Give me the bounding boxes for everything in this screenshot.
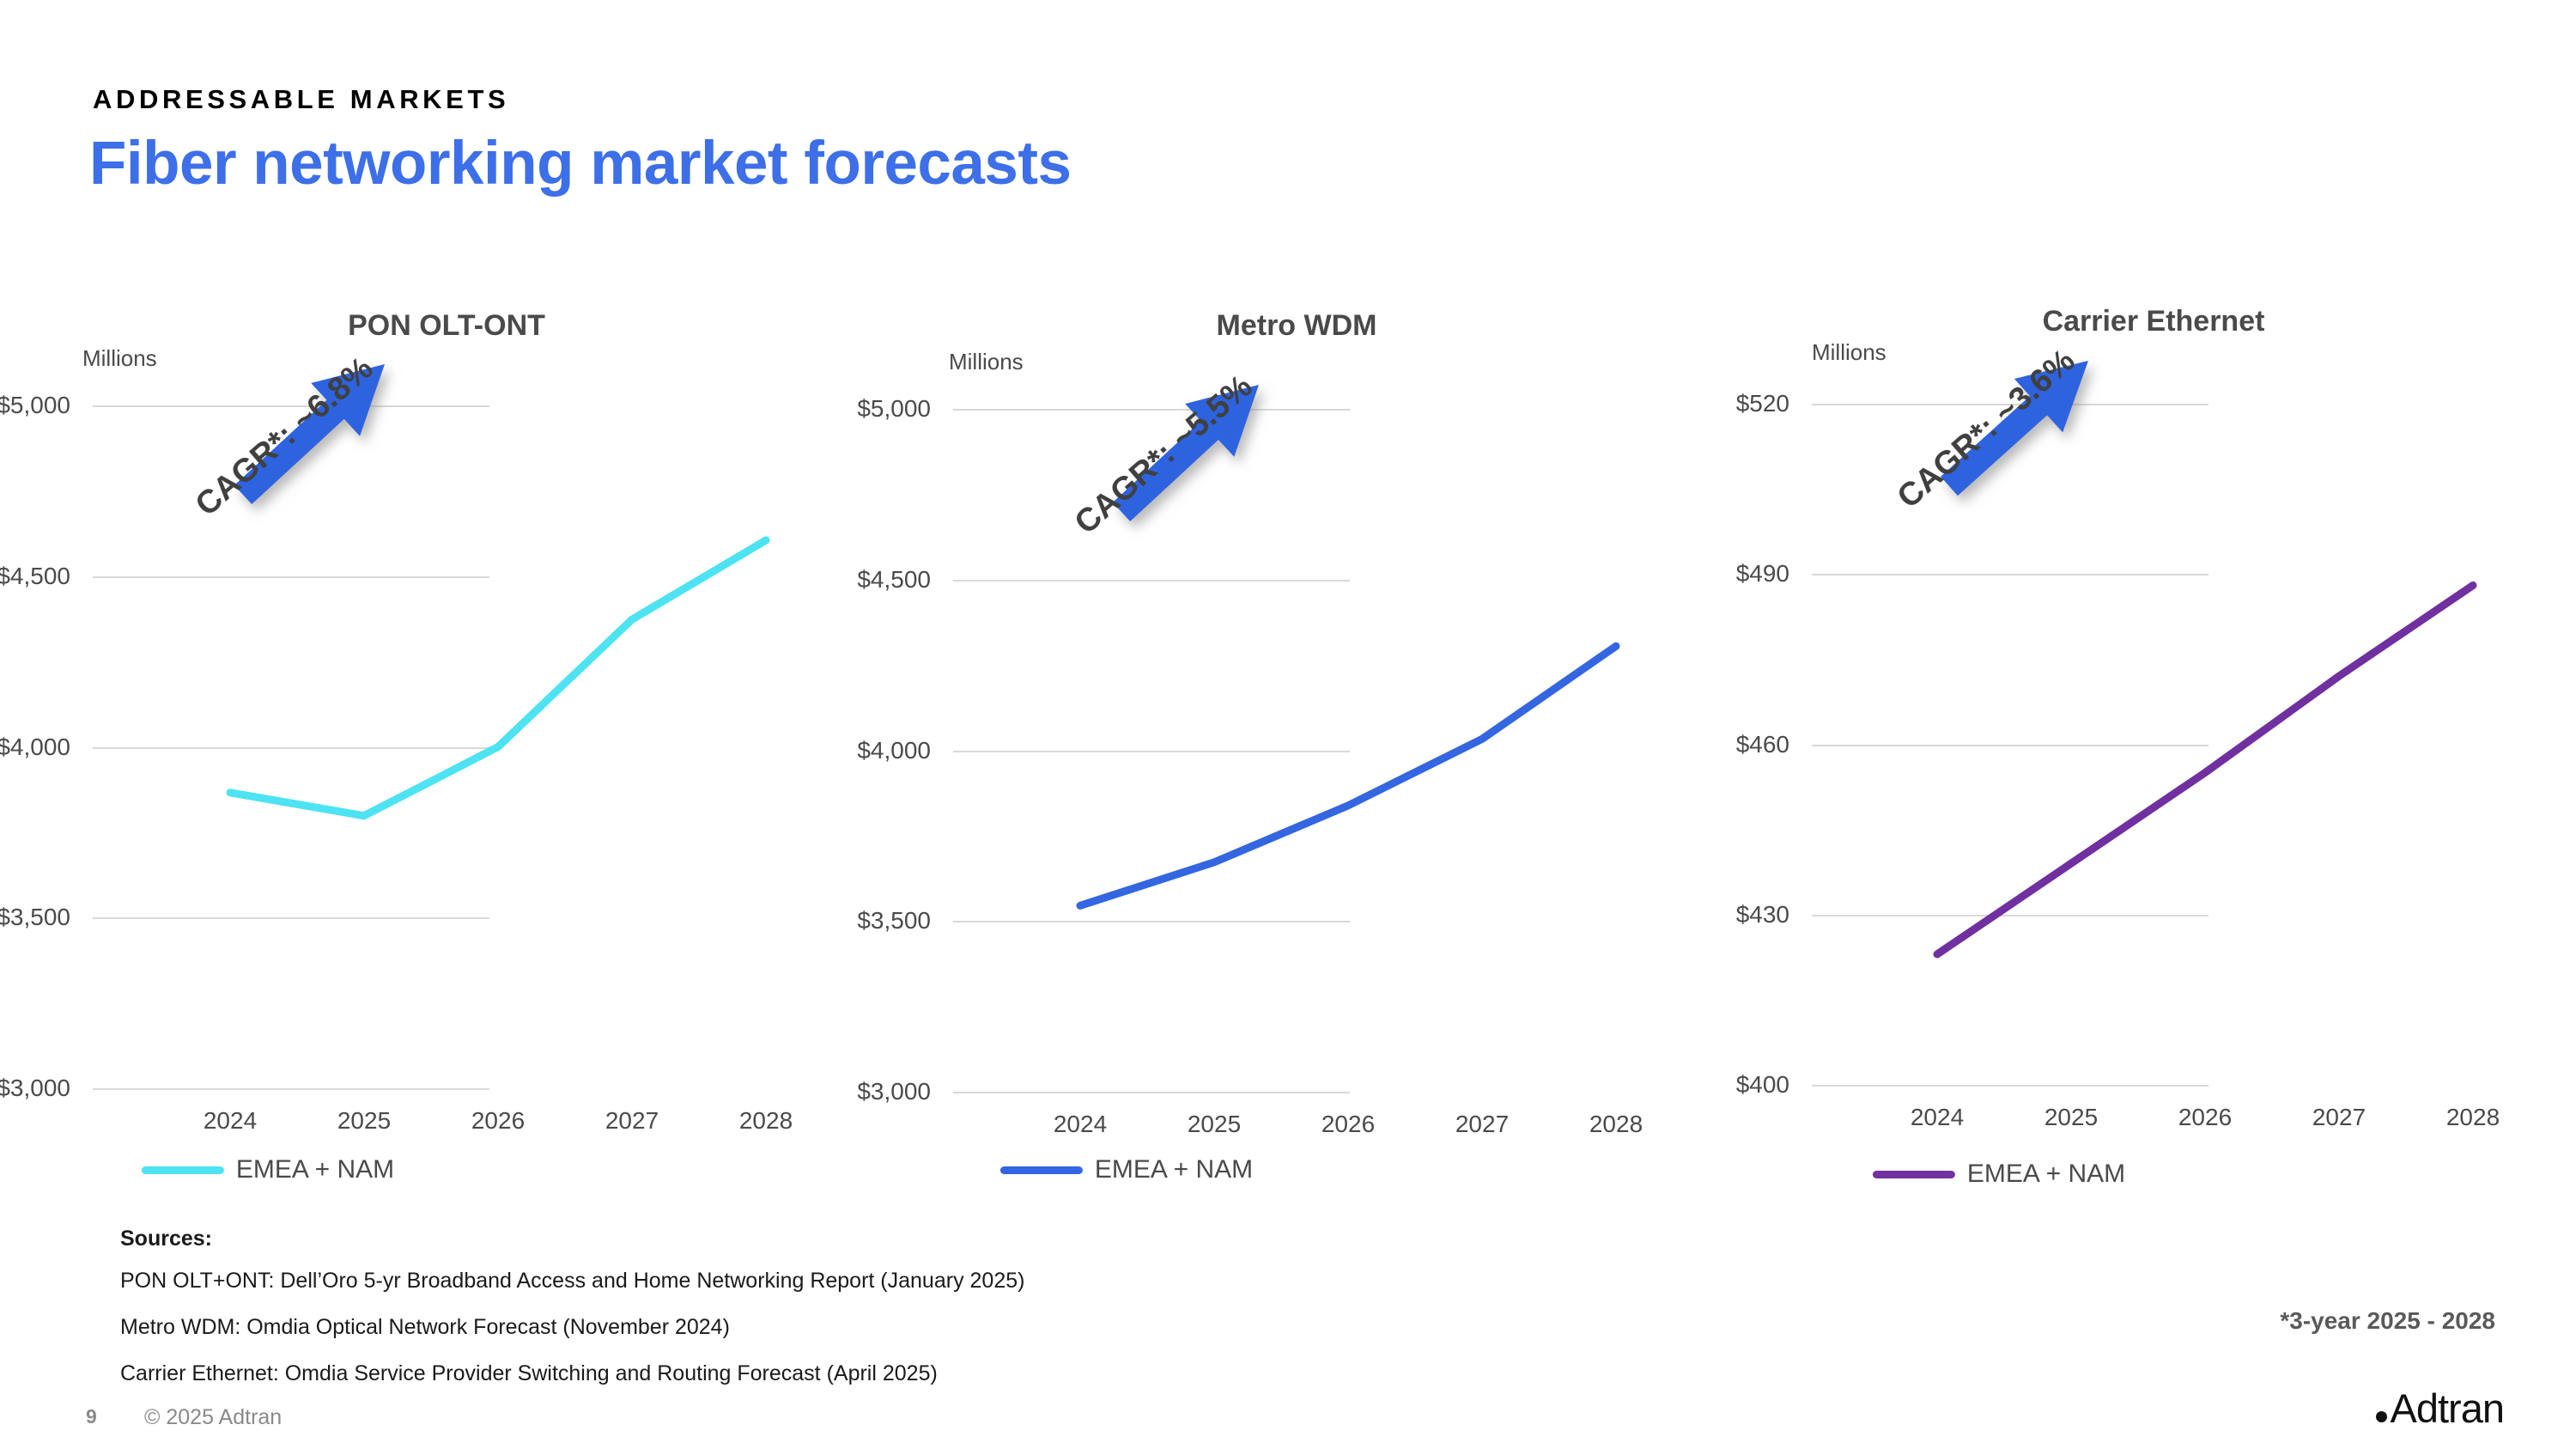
legend-swatch [1000,1166,1083,1174]
x-axis-tick-label: 2028 [739,1107,793,1135]
cagr-annotation: CAGR*: ~5.5% [1068,368,1260,542]
chart-legend: EMEA + NAM [1873,1160,2125,1189]
source-line: PON OLT+ONT: Dell’Oro 5-yr Broadband Acc… [120,1269,1024,1294]
y-axis-tick-label: $5,000 [0,392,70,419]
chart-title: PON OLT-ONT [34,309,859,343]
x-axis-tick-label: 2027 [1455,1111,1509,1138]
x-axis-tick-label: 2024 [204,1107,257,1135]
sources-block: Sources: PON OLT+ONT: Dell’Oro 5-yr Broa… [120,1227,1024,1408]
y-axis-tick-label: $430 [1736,901,1789,928]
series-line [1937,585,2473,954]
chart-panel-carrier-ethernet: Carrier Ethernet Millions $520$490$460$4… [1741,309,2566,1211]
legend-label: EMEA + NAM [1967,1160,2125,1189]
x-axis-tick-label: 2025 [1188,1111,1241,1138]
chart-title: Metro WDM [884,309,1709,343]
x-axis-tick-label: 2028 [2446,1104,2500,1131]
chart-panel-metro-wdm: Metro WDM Millions $5,000$4,500$4,000$3,… [884,309,1709,1211]
y-axis-tick-label: $4,500 [0,563,70,590]
cagr-annotation: CAGR*: ~3.6% [1891,343,2082,516]
sources-heading: Sources: [120,1227,1024,1251]
x-axis-tick-label: 2024 [1054,1111,1107,1138]
x-axis-tick-label: 2026 [2178,1104,2232,1131]
x-axis-tick-label: 2026 [1321,1111,1375,1138]
gridline [1812,745,2208,746]
y-axis-tick-label: $400 [1736,1071,1789,1099]
y-axis-tick-label: $490 [1736,560,1789,588]
x-axis-tick-label: 2024 [1911,1104,1964,1131]
gridline [953,751,1350,752]
series-line [230,540,766,816]
gridline [953,580,1350,581]
page-number: 9 [86,1405,97,1428]
y-axis-tick-label: $3,000 [857,1078,931,1105]
gridline [953,409,1350,411]
logo-dot-icon [2376,1411,2387,1422]
y-axis-tick-label: $520 [1736,390,1789,417]
gridline [1812,574,2208,575]
x-axis-tick-label: 2028 [1589,1111,1643,1138]
x-axis-tick-label: 2027 [2312,1104,2366,1131]
chart-legend: EMEA + NAM [1000,1155,1253,1184]
x-axis-tick-label: 2027 [605,1107,659,1135]
gridline [953,1092,1350,1093]
chart-legend: EMEA + NAM [142,1155,394,1184]
footnote: *3-year 2025 - 2028 [2280,1307,2495,1335]
gridline [1812,915,2208,916]
source-line: Metro WDM: Omdia Optical Network Forecas… [120,1315,1024,1340]
x-axis-tick-label: 2025 [337,1107,391,1135]
legend-label: EMEA + NAM [1095,1155,1253,1184]
plot-area: $5,000$4,500$4,000$3,500$3,0002024202520… [953,409,1350,1092]
axis-unit-label: Millions [82,345,157,372]
y-axis-tick-label: $3,000 [0,1075,70,1102]
source-line: Carrier Ethernet: Omdia Service Provider… [120,1361,1024,1386]
legend-swatch [142,1166,224,1174]
legend-swatch [1873,1171,1955,1178]
y-axis-tick-label: $3,500 [857,907,931,935]
gridline [93,747,489,749]
gridline [953,921,1350,922]
copyright-notice: © 2025 Adtran [144,1405,282,1430]
gridline [93,1088,489,1090]
eyebrow-label: ADDRESSABLE MARKETS [93,84,509,115]
chart-title: Carrier Ethernet [1741,305,2566,338]
y-axis-tick-label: $3,500 [0,904,70,931]
axis-unit-label: Millions [949,349,1024,375]
cagr-annotation: CAGR*: ~6.8% [189,350,380,524]
y-axis-tick-label: $4,000 [0,734,70,761]
y-axis-tick-label: $5,000 [857,395,931,423]
x-axis-tick-label: 2026 [471,1107,525,1135]
y-axis-tick-label: $4,000 [857,737,931,764]
x-axis-tick-label: 2025 [2044,1104,2098,1131]
gridline [93,917,489,919]
axis-unit-label: Millions [1812,339,1886,366]
logo-wordmark: Adtran [2391,1385,2504,1432]
y-axis-tick-label: $4,500 [857,566,931,594]
adtran-logo: Adtran [2376,1385,2504,1432]
series-line [1080,646,1616,905]
gridline [93,576,489,578]
plot-area: $5,000$4,500$4,000$3,500$3,0002024202520… [93,405,489,1088]
gridline [1812,1085,2208,1087]
page-title: Fiber networking market forecasts [89,129,1072,198]
plot-area: $520$490$460$430$40020242025202620272028… [1812,404,2208,1085]
y-axis-tick-label: $460 [1736,731,1789,758]
chart-panel-pon-olt-ont: PON OLT-ONT Millions $5,000$4,500$4,000$… [34,309,859,1211]
legend-label: EMEA + NAM [236,1155,394,1184]
